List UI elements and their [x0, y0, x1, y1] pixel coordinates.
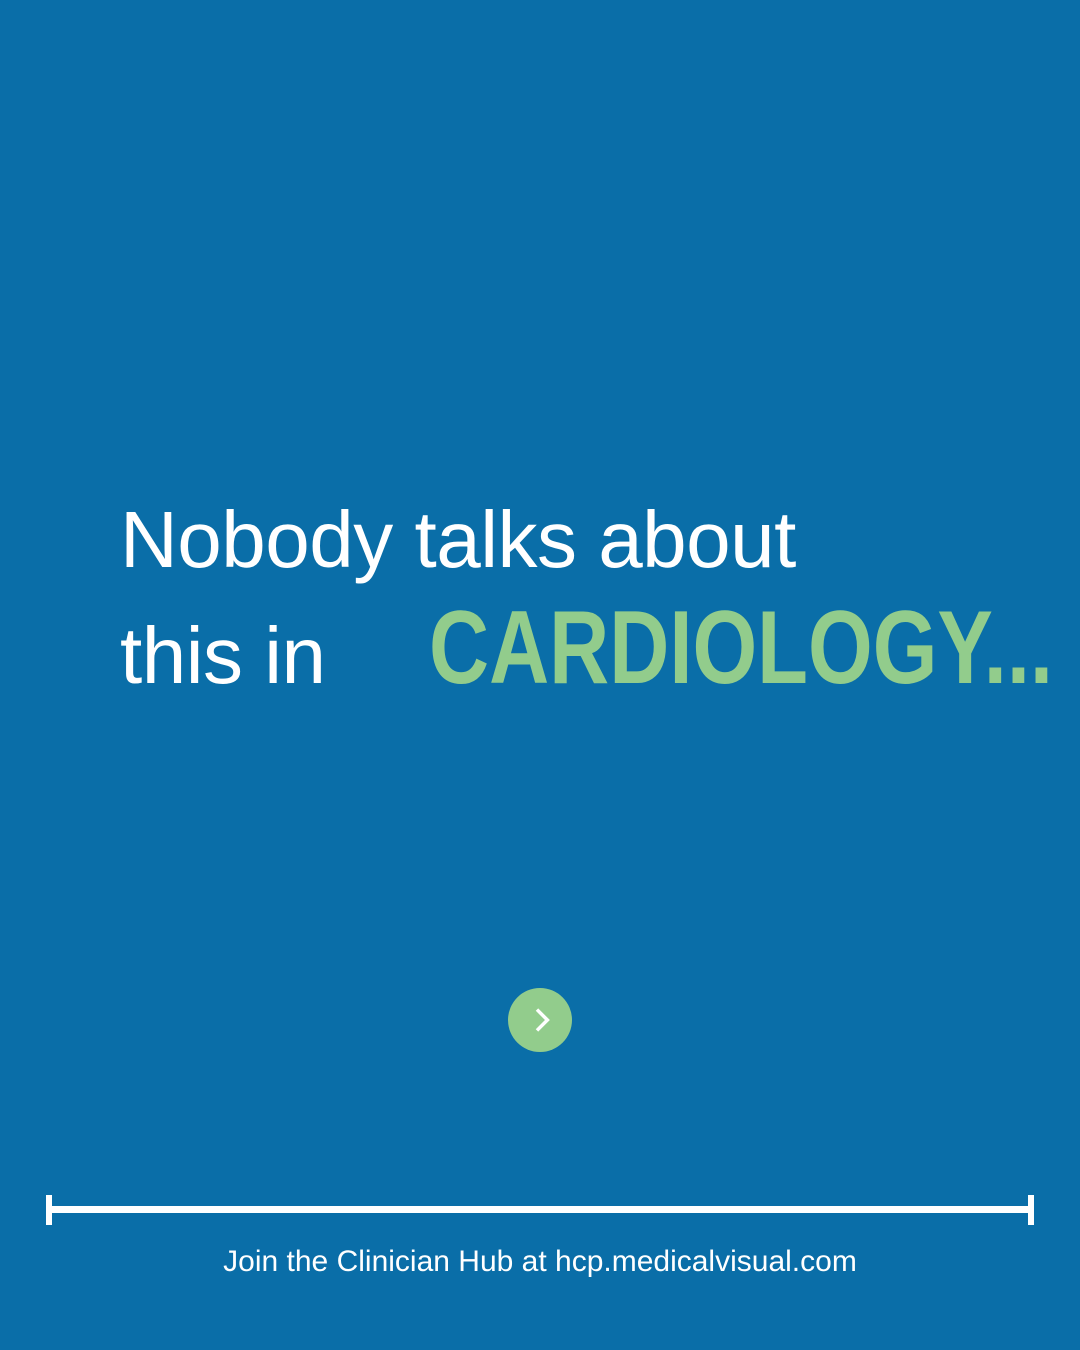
headline-line-1: Nobody talks about	[120, 500, 980, 580]
chevron-right-icon	[529, 1007, 555, 1033]
dimension-line-divider	[46, 1193, 1034, 1227]
next-slide-button[interactable]	[508, 988, 572, 1052]
dimension-line-icon	[46, 1193, 1034, 1227]
slide-canvas: Nobody talks about this inCARDIOLOGY... …	[0, 0, 1080, 1350]
footer: Join the Clinician Hub at hcp.medicalvis…	[0, 1245, 1080, 1279]
headline-lead-text: this in	[120, 611, 325, 700]
headline-line-2: this inCARDIOLOGY...	[120, 596, 980, 700]
page-title: Nobody talks about this inCARDIOLOGY...	[120, 500, 980, 700]
footer-cta-text: Join the Clinician Hub at hcp.medicalvis…	[223, 1245, 857, 1278]
headline-emphasis-cardiology: CARDIOLOGY...	[429, 596, 1053, 700]
